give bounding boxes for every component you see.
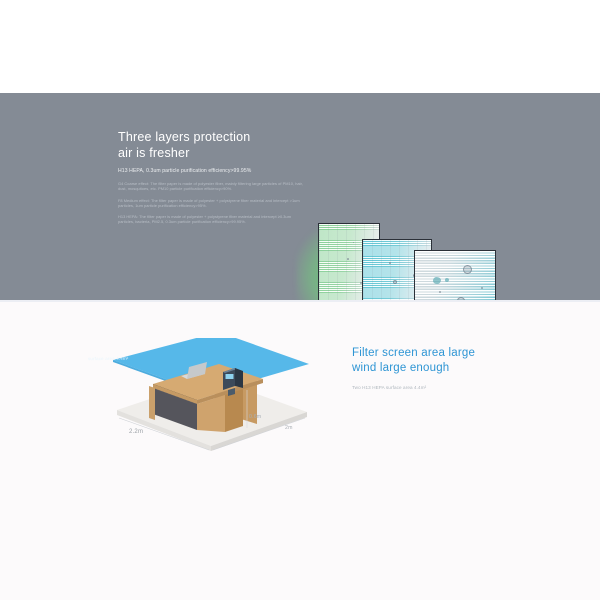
hepa-effect-paragraph: H13 HEPA: The filter paper is made of po…	[118, 214, 308, 225]
hepa-efficiency-lead: H13 HEPA, 0.3um particle purification ef…	[118, 168, 308, 175]
particle-dot	[347, 258, 349, 260]
filter-panels-group: H13 HEPA F8 Medium effect G4 Coarse effe…	[318, 217, 498, 300]
dimension-height: 0.6m	[249, 414, 261, 420]
debris-flake	[445, 278, 449, 282]
particle-dot	[389, 262, 391, 264]
surface-area-label: surface area 4.4m²	[88, 356, 128, 361]
desk-left-leg	[149, 386, 155, 420]
three-layers-copy: Three layers protection air is fresher H…	[118, 130, 308, 225]
purifier-display	[226, 374, 234, 379]
debris-flake	[433, 277, 441, 284]
page-title: Three layers protection air is fresher	[118, 130, 308, 161]
filter-area-subtitle: Two H13 HEPA surface area 4.4m²	[352, 385, 552, 390]
particle-dot	[439, 291, 441, 293]
filter-area-copy: Filter screen area large wind large enou…	[352, 346, 552, 390]
medium-effect-paragraph: F8 Medium effect: The filter paper is ma…	[118, 198, 308, 209]
room-diagram	[95, 338, 320, 453]
particle-ring	[393, 280, 397, 284]
purifier-side	[235, 368, 243, 388]
dimension-width-front: 2.2m	[129, 429, 143, 435]
coarse-pleat-texture	[415, 251, 495, 300]
particle-dot	[481, 287, 483, 289]
large-particle	[463, 265, 472, 274]
filter-area-title: Filter screen area large wind large enou…	[352, 346, 552, 376]
coarse-effect-paragraph: G4 Coarse effect: The filter paper is ma…	[118, 181, 308, 192]
coarse-filter-panel[interactable]	[414, 250, 496, 300]
page-root: H13 HEPA F8 Medium effect G4 Coarse effe…	[0, 0, 600, 600]
section-divider	[0, 300, 600, 302]
dimension-depth-side: 2m	[285, 425, 293, 431]
desk-pedestal-side	[225, 389, 243, 432]
